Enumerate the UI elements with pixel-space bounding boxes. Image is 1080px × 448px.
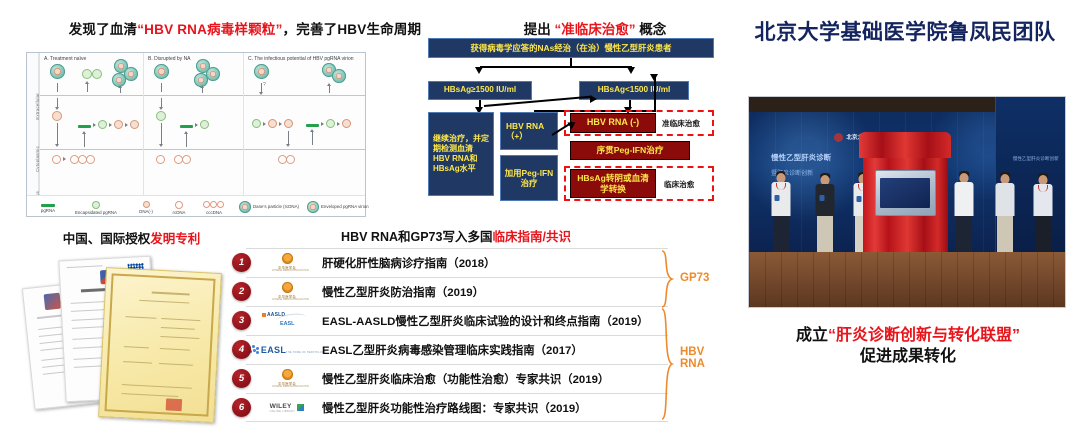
legend-item: cccDNA	[197, 200, 231, 216]
encapsidated-pgrna-icon	[92, 201, 100, 209]
cccdna-glyph	[86, 155, 95, 164]
patent-section-title: 中国、国际授权发明专利	[24, 228, 239, 247]
photo-red-drape	[863, 139, 948, 259]
flow-box-hbsag-high[interactable]: HBsAg≥1500 IU/ml	[428, 81, 532, 100]
caption-line2: 促进成果转化	[736, 347, 1080, 368]
easl-logo-icon: EASLTHE HOME OF HEPATOLOGY	[260, 339, 314, 360]
guidelines-title-part1: HBV RNA和GP73写入多国	[341, 230, 492, 244]
dane-particle-icon	[239, 201, 251, 213]
virion-glyph	[332, 69, 346, 83]
pgrna-icon	[41, 204, 55, 207]
cccdna-glyph	[156, 155, 165, 164]
wiley-logo-icon: WILEYONLINE LIBRARY	[260, 397, 314, 418]
figure-arrow	[57, 123, 58, 145]
guidelines-list: 1 中华医学会 CHINESE MEDICAL ASSOCIATION 肝硬化肝…	[232, 248, 668, 422]
figure-arrow-head	[310, 129, 314, 132]
figure-arrow-head	[200, 85, 204, 88]
patent-certificate-gold[interactable]	[98, 267, 222, 423]
figure-panel-b-title: B. Disrupted by NA	[148, 56, 191, 62]
capsid-glyph	[156, 111, 166, 121]
figure-arrow-head	[55, 107, 59, 110]
figure-arrow-head	[321, 122, 324, 126]
figure-arrow	[329, 85, 330, 93]
virion-glyph	[124, 67, 138, 81]
item-number-badge: 5	[232, 369, 251, 388]
photo-side-screen-text: 慢性乙型肝炎诊断创新	[1013, 156, 1059, 162]
figure-arrow	[87, 83, 88, 92]
figure-panel-a-title: A. Treatment naïve	[44, 56, 86, 62]
legend-label: cccDNA	[197, 210, 231, 216]
list-item[interactable]: 4 EASLTHE HOME OF HEPATOLOGY EASL乙型肝炎病毒感…	[232, 335, 668, 364]
item-text: 慢性乙型肝炎临床治愈（功能性治愈）专家共识（2019）	[322, 364, 609, 393]
cccdna-glyph	[182, 155, 191, 164]
patent-emblem	[44, 293, 62, 311]
capsid-glyph	[200, 120, 209, 129]
legend-item: Enveloped pgRNA virion	[307, 201, 369, 213]
capsid-glyph	[130, 120, 139, 129]
left-headline-part1: 发现了血清	[69, 22, 138, 37]
flow-arrowhead	[627, 67, 635, 74]
pgrna-glyph	[180, 125, 193, 128]
list-item[interactable]: 6 WILEYONLINE LIBRARY 慢性乙型肝炎功能性治疗路线图：专家共…	[232, 393, 668, 422]
caption-highlight: “肝炎诊断创新与转化联盟”	[828, 327, 1020, 344]
legend-label: rcDNA	[165, 210, 193, 216]
figure-arrow-head	[85, 81, 89, 84]
item-text: 肝硬化肝性脑病诊疗指南（2018）	[322, 248, 495, 277]
flowchart-title-part2: 概念	[639, 22, 666, 37]
capsid-glyph	[284, 119, 293, 128]
capsid-glyph	[52, 111, 62, 121]
flowchart-title: 提出 “准临床治愈” 概念	[470, 18, 720, 38]
item-text: EASL乙型肝炎病毒感染管理临床实践指南（2017）	[322, 335, 583, 364]
caption-part1: 成立	[796, 327, 828, 344]
figure-arrow-head	[159, 107, 163, 110]
gp73-brace-label: GP73	[680, 272, 709, 284]
figure-arrow-head	[159, 144, 163, 147]
cma-logo-icon: 中华医学会 CHINESE MEDICAL ASSOCIATION	[260, 252, 314, 273]
virion-glyph	[50, 64, 65, 79]
flow-box-hbvrna-negative[interactable]: HBV RNA (-)	[570, 113, 656, 133]
enveloped-pgrna-virion-icon	[307, 201, 319, 213]
patent-title-highlight: 发明专利	[150, 232, 200, 246]
guidelines-title: HBV RNA和GP73写入多国临床指南/共识	[246, 226, 666, 245]
figure-arrow-head	[286, 144, 290, 147]
hbv-lifecycle-figure: Extracellular Cytoplasmic Nucleus A. Tre…	[26, 52, 366, 217]
figure-arrow-head	[337, 122, 340, 126]
flow-box-top[interactable]: 获得病毒学应答的NAs经治（在治）慢性乙型肝炎患者	[428, 38, 714, 58]
figure-arrow-head	[327, 83, 331, 86]
capsid-glyph	[268, 119, 277, 128]
cccdna-glyph	[52, 155, 61, 164]
flow-box-add-pegifn[interactable]: 加用Peg-IFN治疗	[500, 155, 558, 201]
figure-arrow	[161, 83, 162, 92]
slide-root: 发现了血清“HBV RNA病毒样颗粒”，完善了HBV生命周期 Extracell…	[0, 0, 1080, 448]
figure-axis-strip	[27, 53, 39, 195]
legend-label: Dane's particle (rcDNA)	[253, 204, 299, 209]
capsid-glyph	[114, 120, 123, 129]
figure-arrow-head	[93, 123, 96, 127]
encapsidated-pgrna-glyph	[92, 69, 102, 79]
legend-item: Dane's particle (rcDNA)	[239, 201, 309, 213]
figure-legend: pgRNA Encapsidated pgRNA DNA(-) rcDNA	[27, 195, 365, 216]
hbv-rna-brace-label-line1: HBV	[680, 346, 704, 358]
figure-panel-b: B. Disrupted by NA	[143, 53, 243, 195]
left-headline: 发现了血清“HBV RNA病毒样颗粒”，完善了HBV生命周期	[30, 18, 460, 38]
legend-label: DNA(-)	[131, 209, 161, 215]
figure-arrow	[57, 83, 58, 92]
flow-connector	[480, 66, 572, 68]
hbv-rna-brace-label: HBV RNA	[680, 346, 705, 371]
capsid-glyph	[98, 120, 107, 129]
hbv-rna-brace-label-line2: RNA	[680, 358, 705, 370]
encapsidated-pgrna-glyph	[82, 69, 92, 79]
list-item[interactable]: 5 中华医学会 CHINESE MEDICAL ASSOCIATION 慢性乙型…	[232, 364, 668, 393]
cccdna-glyph	[286, 155, 295, 164]
tag-clinical-cure: 临床治愈	[664, 179, 694, 190]
item-number-badge: 2	[232, 282, 251, 301]
flow-box-sequential-pegifn[interactable]: 序贯Peg-IFN治疗	[570, 141, 690, 160]
hbv-rna-brace	[660, 308, 674, 420]
virion-glyph	[154, 64, 169, 79]
figure-arrow-head	[63, 157, 66, 161]
list-item[interactable]: 3 AASLD EASL EASL-AASLD慢性乙型肝炎临床试验的设计和终点指…	[232, 306, 668, 335]
item-number-badge: 1	[232, 253, 251, 272]
item-number-badge: 6	[232, 398, 251, 417]
patent-seal	[166, 399, 183, 412]
capsid-glyph	[326, 119, 335, 128]
guidelines-title-highlight: 临床指南/共识	[492, 230, 570, 244]
figure-arrow-head	[109, 123, 112, 127]
capsid-glyph	[252, 119, 261, 128]
flow-connector	[570, 66, 632, 68]
flow-arrowhead	[590, 95, 597, 103]
cccdna-icon	[197, 200, 231, 209]
flowchart-title-quoted: “准临床治愈”	[555, 22, 636, 37]
pgrna-glyph	[306, 124, 319, 127]
legend-item: DNA(-)	[131, 200, 161, 215]
rcdna-icon	[175, 201, 183, 209]
figure-arrow	[186, 133, 187, 147]
photo-caption: 成立“肝炎诊断创新与转化联盟” 促进成果转化	[736, 326, 1080, 368]
figure-arrow-head	[263, 122, 266, 126]
figure-arrow-head	[195, 123, 198, 127]
item-number-badge: 3	[232, 311, 251, 330]
dna-neg-icon	[143, 201, 150, 208]
figure-arrow-head	[125, 123, 128, 127]
item-text: 慢性乙型肝炎防治指南（2019）	[322, 277, 484, 306]
flowchart-canvas: 获得病毒学应答的NAs经治（在治）慢性乙型肝炎患者 HBsAg≥1500 IU/…	[424, 38, 718, 214]
figure-arrow-head	[259, 92, 263, 95]
figure-arrow-head	[82, 131, 86, 134]
legend-label: pgRNA	[31, 208, 65, 214]
figure-panel-a: A. Treatment naïve	[39, 53, 143, 195]
legend-label: Encapsidated pgRNA	[65, 210, 127, 216]
flow-box-continue-treatment[interactable]: 继续治疗，并定期检测血清HBV RNA和HBsAg水平	[428, 112, 494, 196]
team-title: 北京大学基础医学院鲁凤民团队	[740, 16, 1070, 46]
ceremony-photo: 北京大学 慢性乙型肝炎诊断 暨肝炎诊断创新 慢性乙型肝炎诊断创新	[748, 96, 1066, 308]
virion-glyph	[206, 67, 220, 81]
cma-logo-icon: 中华医学会 CHINESE MEDICAL ASSOCIATION	[260, 281, 314, 302]
pgrna-glyph	[78, 125, 91, 128]
flow-connector	[654, 74, 656, 112]
figure-arrow-head	[184, 131, 188, 134]
aasld-easl-logo-icon: AASLD EASL	[260, 310, 314, 331]
tag-quasi-clinical-cure: 准临床治愈	[662, 118, 700, 129]
gp73-brace	[660, 250, 674, 308]
flow-box-hbsag-loss[interactable]: HBsAg转阴或血清学转换	[570, 169, 656, 198]
legend-label: Enveloped pgRNA virion	[321, 204, 369, 209]
legend-item: pgRNA	[31, 201, 65, 213]
cma-logo-icon: 中华医学会 CHINESE MEDICAL ASSOCIATION	[260, 368, 314, 389]
list-item[interactable]: 2 中华医学会 CHINESE MEDICAL ASSOCIATION 慢性乙型…	[232, 277, 668, 306]
capsid-glyph	[342, 119, 351, 128]
figure-arrow	[161, 123, 162, 145]
photo-backdrop-line1: 慢性乙型肝炎诊断	[771, 152, 831, 163]
patent-title-part1: 中国、国际授权	[63, 232, 151, 246]
figure-arrow	[84, 133, 85, 147]
flowchart-title-part1: 提出	[524, 22, 551, 37]
figure-arrow-head	[118, 85, 122, 88]
photo-floor	[749, 252, 1065, 307]
flow-arrowhead	[475, 67, 483, 74]
figure-panel-c-title: C. The infectious potential of HBV pgRNA…	[248, 56, 354, 62]
photo-unveiling-plaque	[875, 170, 936, 215]
figure-panel-c: C. The infectious potential of HBV pgRNA…	[243, 53, 367, 195]
figure-arrow-head	[55, 144, 59, 147]
left-headline-quoted: “HBV RNA病毒样颗粒”	[137, 22, 282, 37]
left-headline-part2: ，完善了HBV生命周期	[283, 22, 422, 37]
legend-item: rcDNA	[165, 200, 193, 216]
item-text: EASL-AASLD慢性乙型肝炎临床试验的设计和终点指南（2019）	[322, 306, 649, 335]
figure-question-mark: ?	[263, 82, 266, 88]
virion-glyph	[254, 64, 269, 79]
item-number-badge: 4	[232, 340, 251, 359]
figure-arrow	[312, 131, 313, 145]
item-text: 慢性乙型肝炎功能性治疗路线图：专家共识（2019）	[322, 393, 587, 422]
figure-arrow-head	[279, 122, 282, 126]
legend-item: Encapsidated pgRNA	[65, 200, 127, 216]
list-item[interactable]: 1 中华医学会 CHINESE MEDICAL ASSOCIATION 肝硬化肝…	[232, 248, 668, 277]
patent-certificates-group	[28, 252, 243, 422]
flow-box-hbvrna-positive[interactable]: HBV RNA（+）	[500, 112, 558, 150]
figure-arrow	[288, 131, 289, 145]
